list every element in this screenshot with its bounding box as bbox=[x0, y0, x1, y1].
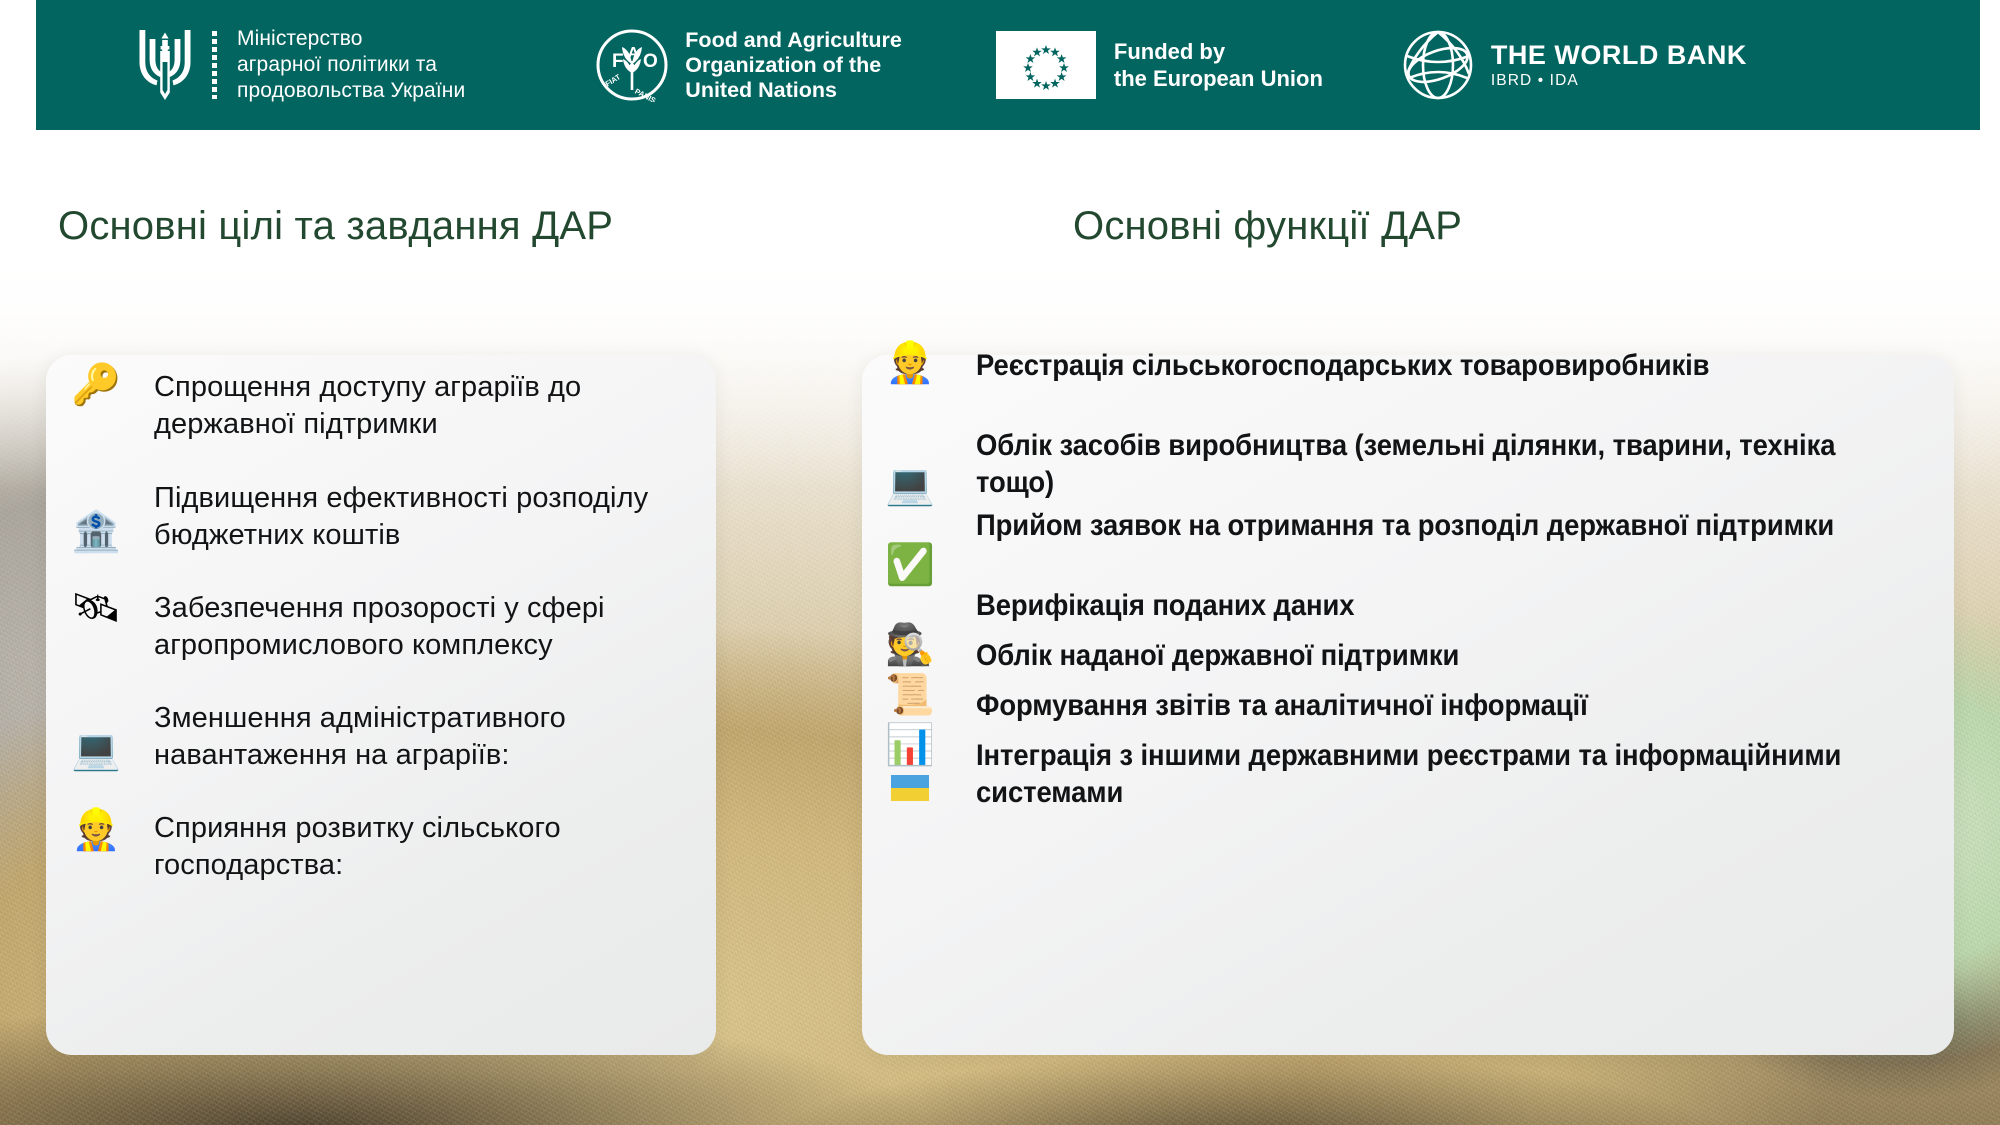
world-bank-subtitle: IBRD • IDA bbox=[1491, 72, 1747, 90]
satellite-icon: 🛰 bbox=[68, 588, 124, 628]
key-icon: 🔑 bbox=[68, 365, 124, 405]
eu-line-2: the European Union bbox=[1114, 65, 1323, 92]
list-item[interactable]: 💻 Облік засобів виробництва (земельні ді… bbox=[882, 427, 1942, 505]
logo-ministry: Міністерство аграрної політики та продов… bbox=[136, 0, 465, 130]
list-item[interactable]: ✅ Прийом заявок на отримання та розподіл… bbox=[882, 507, 1942, 585]
list-item-label: Спрощення доступу аграріїв до державної … bbox=[154, 369, 688, 442]
list-item-label: Зменшення адміністративного навантаження… bbox=[154, 700, 688, 773]
eu-flag-icon bbox=[996, 31, 1096, 99]
list-item-label: Прийом заявок на отримання та розподіл д… bbox=[976, 507, 1834, 544]
list-item[interactable]: 👷 Сприяння розвитку сільського господарс… bbox=[68, 810, 688, 883]
list-item-label: Облік засобів виробництва (земельні діля… bbox=[976, 427, 1874, 501]
list-item-label: Формування звітів та аналітичної інформа… bbox=[976, 687, 1588, 724]
list-item-label: Облік наданої державної підтримки bbox=[976, 637, 1459, 674]
world-bank-name: THE WORLD BANK IBRD • IDA bbox=[1491, 41, 1747, 90]
list-item-label: Сприяння розвитку сільського господарств… bbox=[154, 810, 688, 883]
goals-card: 🔑 Спрощення доступу аграріїв до державно… bbox=[46, 355, 716, 1055]
list-item[interactable]: 👷 Реєстрація сільськогосподарських товар… bbox=[882, 347, 1942, 384]
list-item-label: Підвищення ефективності розподілу бюджет… bbox=[154, 480, 688, 553]
fao-line-1: Food and Agriculture bbox=[685, 28, 902, 53]
logo-world-bank: THE WORLD BANK IBRD • IDA bbox=[1401, 0, 1747, 130]
list-item-label: Реєстрація сільськогосподарських товаров… bbox=[976, 347, 1709, 384]
header-logo-bar: Міністерство аграрної політики та продов… bbox=[36, 0, 1980, 130]
functions-card: 👷 Реєстрація сільськогосподарських товар… bbox=[862, 355, 1954, 1055]
logo-fao: F A O FIAT PANIS Food and Agriculture Or… bbox=[595, 0, 902, 130]
check-mark-icon: ✅ bbox=[882, 545, 938, 585]
svg-text:F: F bbox=[612, 51, 624, 72]
eu-line-1: Funded by bbox=[1114, 38, 1323, 65]
farmer-icon: 👷 bbox=[68, 810, 124, 850]
world-bank-globe-icon bbox=[1401, 28, 1475, 102]
heading-functions: Основні функції ДАР bbox=[1073, 202, 1462, 250]
ukraine-trident-icon bbox=[136, 28, 194, 102]
list-item[interactable]: 💻 Зменшення адміністративного навантажен… bbox=[68, 700, 688, 773]
eu-funding-text: Funded by the European Union bbox=[1114, 38, 1323, 92]
fao-line-2: Organization of the bbox=[685, 53, 902, 78]
ministry-line-3: продовольства України bbox=[237, 78, 465, 104]
list-item-label: Забезпечення прозоpості у сфері агропром… bbox=[154, 590, 688, 663]
ministry-name: Міністерство аграрної політики та продов… bbox=[237, 26, 465, 104]
list-item[interactable]: Інтеграція з іншими державними реєстрами… bbox=[882, 737, 1942, 811]
laptop-icon: 💻 bbox=[882, 465, 938, 505]
laptop-icon: 💻 bbox=[68, 730, 124, 770]
ministry-line-1: Міністерство bbox=[237, 26, 465, 52]
heading-goals: Основні цілі та завдання ДАР bbox=[58, 202, 613, 250]
world-bank-title: THE WORLD BANK bbox=[1491, 41, 1747, 70]
list-item[interactable]: 🛰 Забезпечення прозоpості у сфері агропр… bbox=[68, 590, 688, 663]
list-item[interactable]: 🔑 Спрощення доступу аграріїв до державно… bbox=[68, 369, 688, 442]
svg-text:FIAT: FIAT bbox=[604, 72, 623, 88]
list-item-label: Верифікація поданих даних bbox=[976, 587, 1354, 624]
svg-text:O: O bbox=[643, 51, 658, 72]
logo-eu: Funded by the European Union bbox=[996, 0, 1323, 130]
ukraine-flag-icon bbox=[882, 775, 938, 801]
logo-divider bbox=[212, 31, 217, 99]
farmer-icon: 👷 bbox=[882, 343, 938, 383]
bank-icon: 🏦 bbox=[68, 512, 124, 552]
fao-line-3: United Nations bbox=[685, 78, 902, 103]
list-item[interactable]: 🏦 Підвищення ефективності розподілу бюдж… bbox=[68, 480, 688, 553]
ministry-line-2: аграрної політики та bbox=[237, 52, 465, 78]
list-item-label: Інтеграція з іншими державними реєстрами… bbox=[976, 737, 1874, 811]
fao-wheat-icon: F A O FIAT PANIS bbox=[595, 28, 669, 102]
fao-name: Food and Agriculture Organization of the… bbox=[685, 28, 902, 103]
